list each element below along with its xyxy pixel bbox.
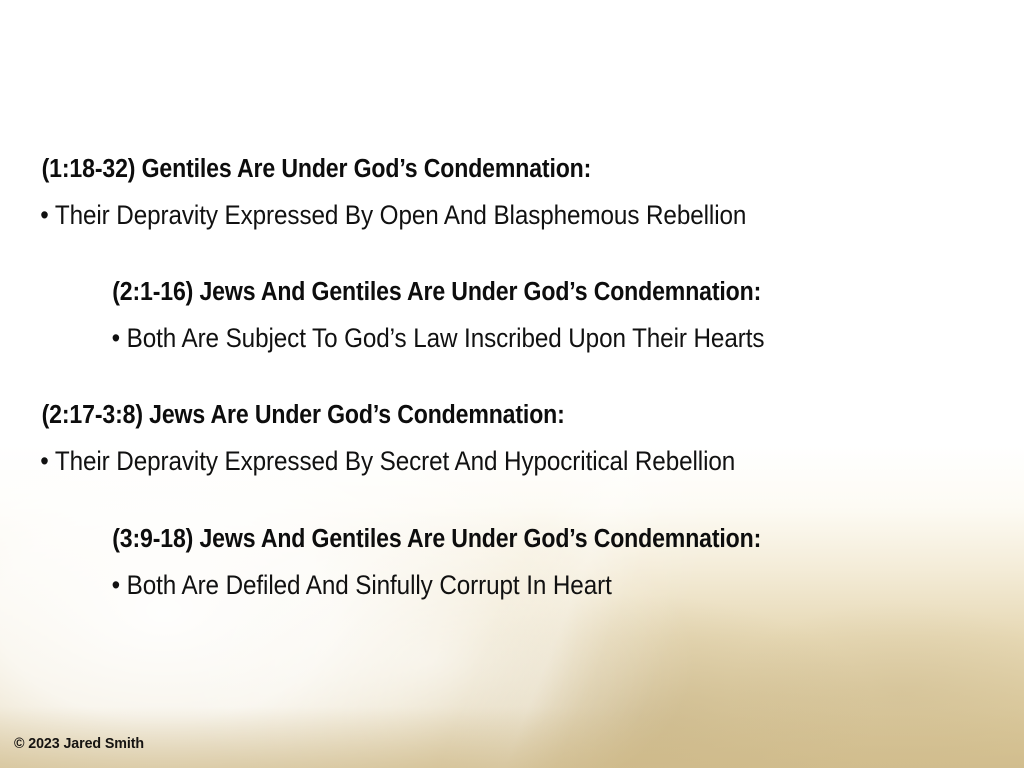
outline-group-3: (2:17-3:8) Jews Are Under God’s Condemna… bbox=[0, 398, 1024, 478]
outline-bullet-1: • Their Depravity Expressed By Open And … bbox=[0, 198, 937, 232]
outline-heading-2: (2:1-16) Jews And Gentiles Are Under God… bbox=[0, 275, 927, 309]
outline-heading-3: (2:17-3:8) Jews Are Under God’s Condemna… bbox=[0, 398, 927, 432]
copyright-footer: © 2023 Jared Smith bbox=[14, 735, 144, 752]
outline-bullet-2: • Both Are Subject To God’s Law Inscribe… bbox=[0, 321, 937, 355]
outline-heading-4: (3:9-18) Jews And Gentiles Are Under God… bbox=[0, 522, 927, 556]
presentation-slide: (1:18-32) Gentiles Are Under God’s Conde… bbox=[0, 0, 1024, 768]
slide-content: (1:18-32) Gentiles Are Under God’s Conde… bbox=[0, 0, 1024, 768]
outline-group-2: (2:1-16) Jews And Gentiles Are Under God… bbox=[0, 275, 1024, 355]
outline-bullet-4: • Both Are Defiled And Sinfully Corrupt … bbox=[0, 568, 937, 602]
outline-heading-1: (1:18-32) Gentiles Are Under God’s Conde… bbox=[0, 152, 927, 186]
outline-bullet-3: • Their Depravity Expressed By Secret An… bbox=[0, 444, 937, 478]
outline-group-4: (3:9-18) Jews And Gentiles Are Under God… bbox=[0, 522, 1024, 602]
outline-group-1: (1:18-32) Gentiles Are Under God’s Conde… bbox=[0, 152, 1024, 232]
